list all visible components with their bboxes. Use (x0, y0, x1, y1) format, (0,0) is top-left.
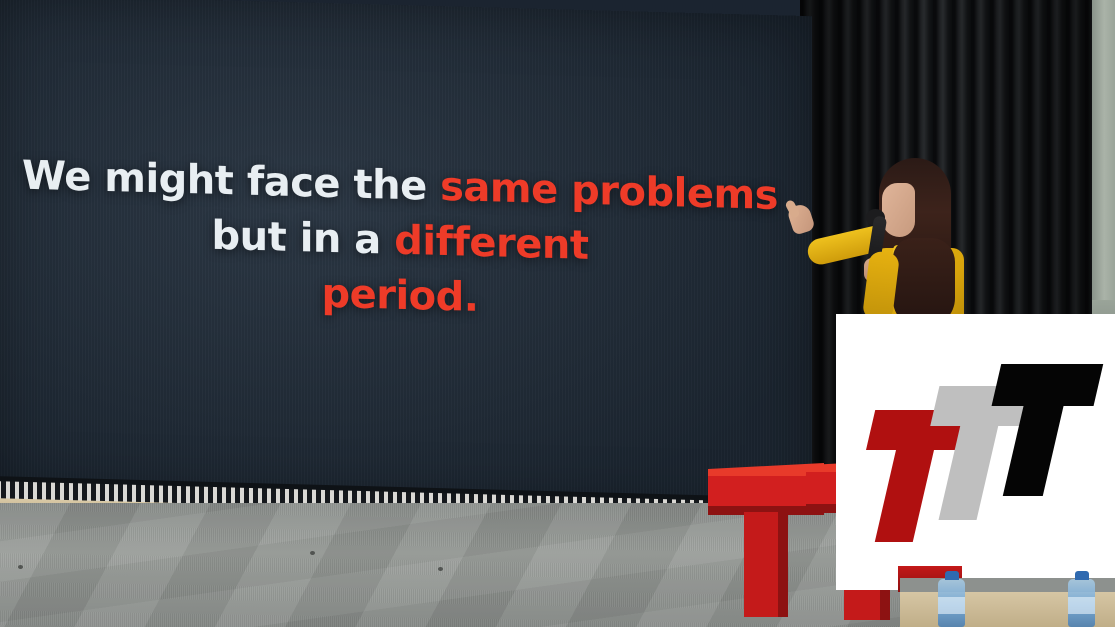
logo-T-black (971, 364, 1103, 496)
slide-seg-3: but in a (212, 213, 395, 264)
right-wall-strip (1088, 0, 1115, 320)
floor-speck (18, 565, 23, 569)
bottle-label (938, 597, 965, 614)
logo-panel (836, 314, 1115, 590)
slide-seg-5: period. (321, 271, 478, 321)
logo-marks-group (836, 314, 1115, 590)
bottle-label (1068, 597, 1095, 614)
slide-seg-4: different (394, 218, 588, 269)
speaker-face (882, 183, 915, 237)
stage-photo: We might face the same problems but in a… (0, 0, 1115, 627)
slide-text-block: We might face the same problems but in a… (0, 0, 800, 335)
bottle-cap (1075, 571, 1089, 580)
bottle-cap (945, 571, 959, 580)
water-bottle-1 (938, 579, 965, 627)
water-bottle-2 (1068, 579, 1095, 627)
slide-seg-2: same problems (440, 164, 778, 219)
floor-speck (438, 567, 443, 571)
slide-seg-1: We might face the (22, 153, 440, 210)
floor-speck (310, 551, 315, 555)
slide-line-1: We might face the same problems but in a… (0, 148, 800, 280)
